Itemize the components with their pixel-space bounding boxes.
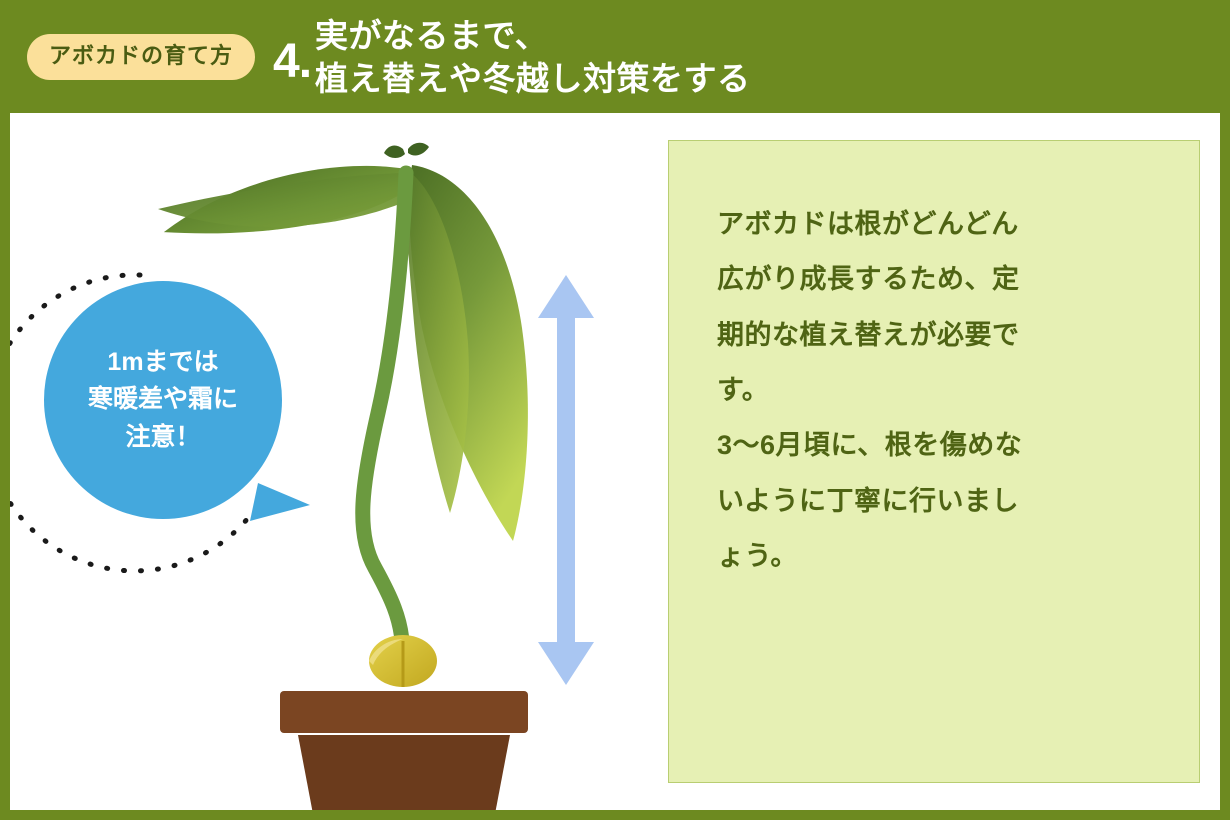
description-line-4: す。	[717, 363, 1157, 418]
series-badge: アボカドの育て方	[27, 34, 255, 80]
description-line-7: ょう。	[717, 529, 1157, 584]
leaf-sprout-2	[408, 143, 429, 156]
description-line-3: 期的な植え替えが必要で	[717, 308, 1157, 363]
description-line-1: アボカドは根がどんどん	[717, 197, 1157, 252]
bubble-line-2: 寒暖差や霜に	[88, 381, 238, 419]
slide-root: アボカドの育て方 4. 実がなるまで、 植え替えや冬越し対策をする	[0, 0, 1230, 820]
page-title: 4. 実がなるまで、 植え替えや冬越し対策をする	[273, 13, 751, 99]
content-card: 1mまでは 寒暖差や霜に 注意！ アボカドは根がどんどん 広がり成長するため、定…	[10, 113, 1220, 810]
title-lines: 実がなるまで、 植え替えや冬越し対策をする	[315, 15, 751, 99]
leaf-sprout	[384, 146, 405, 158]
step-number: 4.	[273, 13, 311, 86]
title-line-1: 実がなるまで、	[315, 15, 751, 57]
height-arrow	[538, 275, 594, 685]
speech-bubble: 1mまでは 寒暖差や霜に 注意！	[28, 265, 298, 535]
speech-bubble-text: 1mまでは 寒暖差や霜に 注意！	[28, 265, 298, 535]
bubble-line-3: 注意！	[125, 419, 200, 457]
illustration-area: 1mまでは 寒暖差や霜に 注意！	[10, 113, 660, 810]
header-bar: アボカドの育て方 4. 実がなるまで、 植え替えや冬越し対策をする	[0, 0, 1230, 113]
description-panel: アボカドは根がどんどん 広がり成長するため、定 期的な植え替えが必要で す。 3…	[668, 140, 1200, 783]
description-line-5: 3〜6月頃に、根を傷めな	[717, 418, 1157, 473]
description-line-2: 広がり成長するため、定	[717, 252, 1157, 307]
pot-rim	[280, 691, 528, 733]
title-line-2: 植え替えや冬越し対策をする	[315, 58, 751, 100]
plant-stem	[363, 173, 406, 641]
bubble-line-1: 1mまでは	[107, 344, 218, 382]
description-line-6: いように丁寧に行いまし	[717, 474, 1157, 529]
pot-body	[298, 735, 510, 810]
